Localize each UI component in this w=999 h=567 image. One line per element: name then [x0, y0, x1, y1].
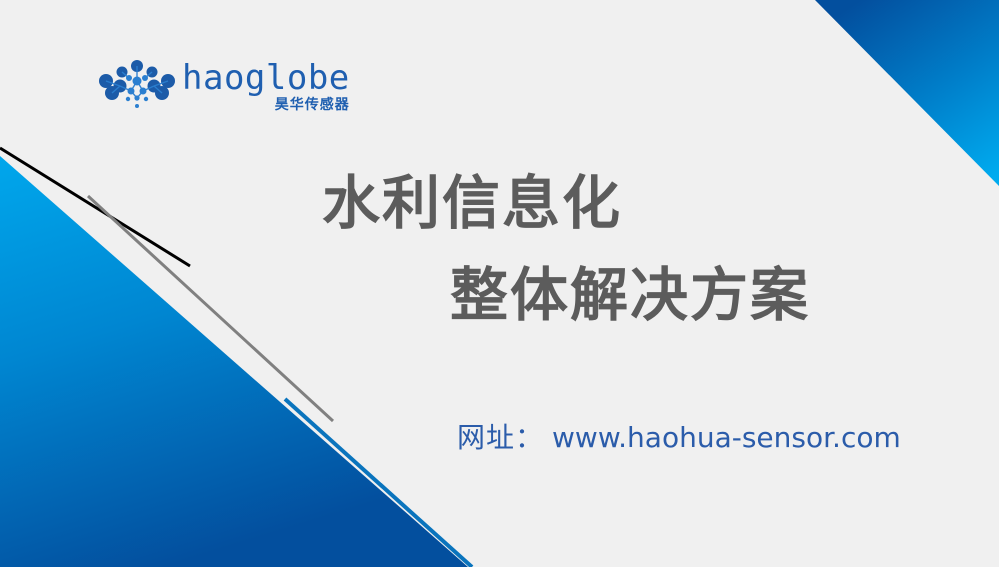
- haoglobe-network-dots-icon: [98, 58, 176, 114]
- slide-title: 水利信息化 整体解决方案: [300, 165, 920, 333]
- website-line: 网址： www.haohua-sensor.com: [457, 421, 901, 455]
- logo-wordmark: haoglobe: [182, 61, 350, 95]
- website-url[interactable]: www.haohua-sensor.com: [552, 421, 901, 455]
- website-label: 网址：: [457, 421, 544, 455]
- slide-title-line-1: 水利信息化: [322, 165, 920, 241]
- presentation-slide: haoglobe 昊华传感器 水利信息化 整体解决方案 网址： www.haoh…: [0, 0, 999, 567]
- logo-text-group: haoglobe 昊华传感器: [182, 58, 350, 114]
- logo-chinese-subtext: 昊华传感器: [275, 96, 350, 114]
- slide-title-line-2: 整体解决方案: [450, 257, 920, 333]
- company-logo: haoglobe 昊华传感器: [98, 58, 313, 120]
